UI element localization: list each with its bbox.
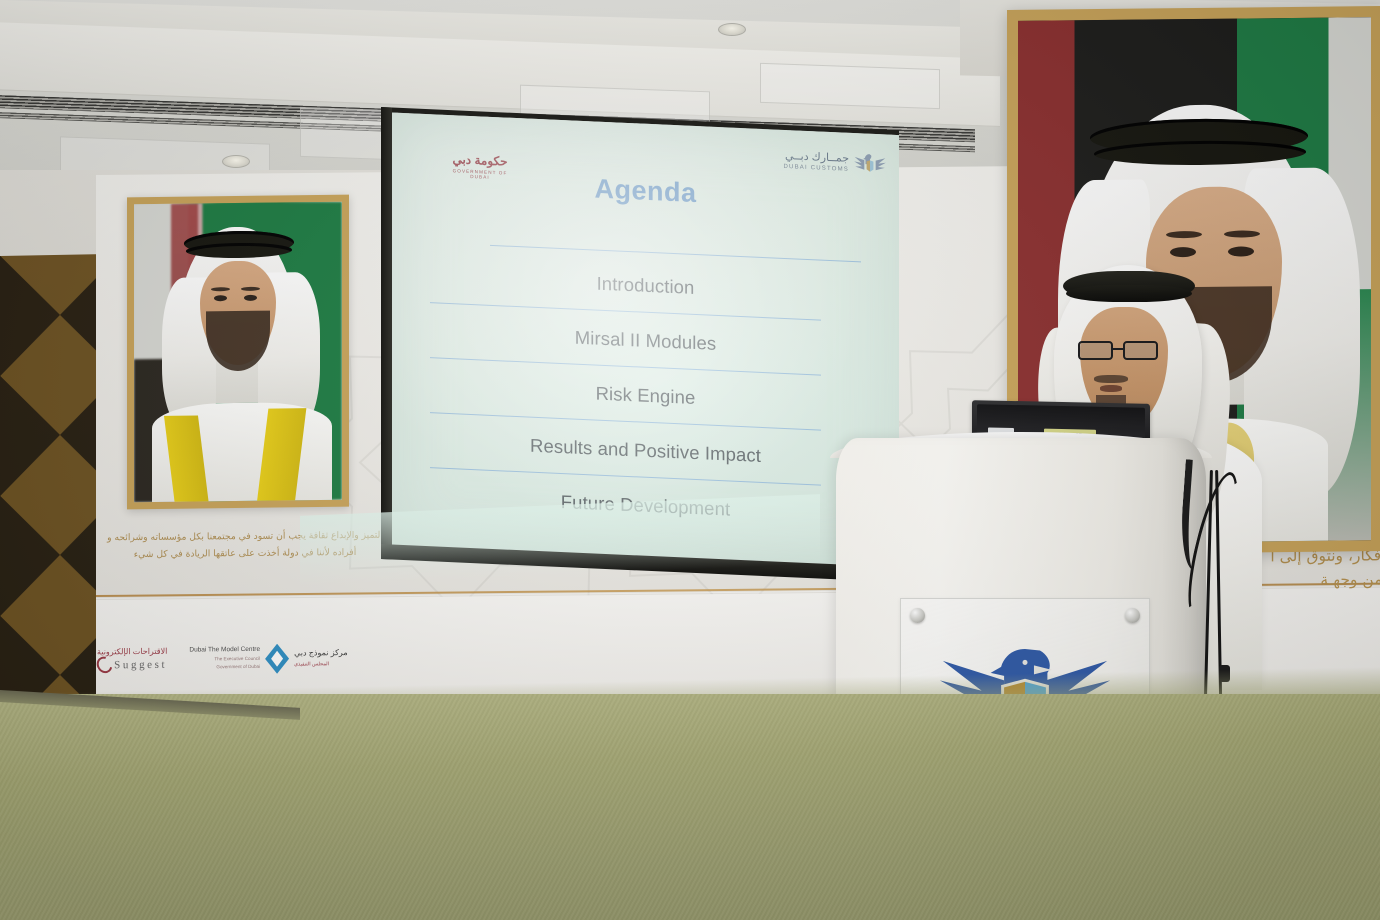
dubai-customs-falcon-icon	[853, 150, 887, 178]
presentation-room-photo: التميز والإبداع ثقافة يجب أن تسود في مجت…	[0, 0, 1380, 920]
model-centre-arabic: مركز نموذج دبي المجلس التنفيذي	[294, 648, 348, 669]
slide-surface: حكومة دبي GOVERNMENT OF DUBAI جمــارك دب…	[392, 112, 899, 567]
agenda-item-label: Introduction	[430, 265, 861, 306]
presenter-eyeglasses	[1078, 341, 1166, 360]
diamond-pattern-accent-wall	[0, 254, 108, 706]
dubai-customs-english: DUBAI CUSTOMS	[784, 163, 850, 172]
screen-frame-left	[381, 107, 392, 559]
gov-dubai-arabic: حكومة دبي	[449, 153, 511, 168]
agenda-divider	[490, 245, 861, 263]
presenter-mouth	[1100, 385, 1122, 392]
eyeglass-lens-right	[1123, 341, 1158, 360]
portrait-left-image	[134, 202, 342, 503]
dubai-customs-arabic: جمــارك دبــي	[784, 150, 850, 164]
ceiling-downlight	[222, 155, 250, 168]
model-centre-english: Dubai The Model Centre The Executive Cou…	[189, 646, 260, 673]
plaque-bolt	[910, 608, 925, 623]
suggest-logo-wordmark: Suggest	[97, 656, 167, 674]
dubai-customs-logo: جمــارك دبــي DUBAI CUSTOMS	[759, 141, 887, 183]
banner-left-quote: التميز والإبداع ثقافة يجب أن تسود في مجت…	[100, 527, 390, 565]
eyeglass-bridge	[1113, 348, 1123, 350]
agenda-list: Introduction Mirsal II Modules Risk Engi…	[430, 256, 861, 550]
carpet-floor	[0, 694, 1380, 920]
ceiling-panel	[760, 63, 940, 109]
ceiling-downlight	[718, 23, 746, 36]
plaque-bolt	[1125, 608, 1140, 623]
dubai-customs-wordmark: جمــارك دبــي DUBAI CUSTOMS	[784, 150, 850, 172]
dubai-the-model-centre-logo: Dubai The Model Centre The Executive Cou…	[189, 643, 347, 675]
portrait-sheikh-mohammed-bin-rashid	[127, 195, 349, 510]
presenter-agal-lower	[1066, 285, 1192, 302]
suggest-e-icon	[94, 654, 115, 676]
presenter-moustache	[1094, 375, 1128, 383]
suggest-logo: الاقتراحات الإلكترونية Suggest	[97, 647, 167, 674]
eyeglass-lens-left	[1078, 341, 1113, 360]
model-centre-diamond-icon	[265, 644, 289, 674]
suggest-logo-english: Suggest	[114, 658, 167, 671]
projection-screen: حكومة دبي GOVERNMENT OF DUBAI جمــارك دب…	[381, 107, 899, 582]
banner-sponsor-logos: الاقتراحات الإلكترونية Suggest Dubai The…	[97, 635, 397, 684]
